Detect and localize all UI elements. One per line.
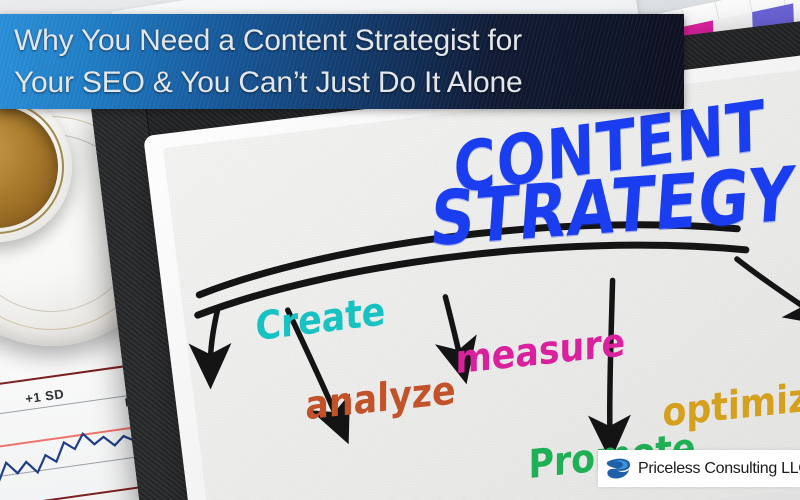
title-line-1: Why You Need a Content Strategist for — [14, 20, 684, 62]
title-banner: Why You Need a Content Strategist for Yo… — [0, 14, 684, 109]
title-line-2: Your SEO & You Can’t Just Do It Alone — [14, 62, 684, 104]
logo-watermark[interactable]: Priceless Consulting LLC — [598, 450, 800, 487]
priceless-swoosh-icon — [604, 454, 634, 484]
blog-header-image: +1 SD L 7.5% 15.8% 11.0% NA 1.1 Jan — [0, 0, 800, 500]
coffee-liquid — [0, 100, 64, 234]
logo-text: Priceless Consulting LLC — [638, 460, 800, 478]
